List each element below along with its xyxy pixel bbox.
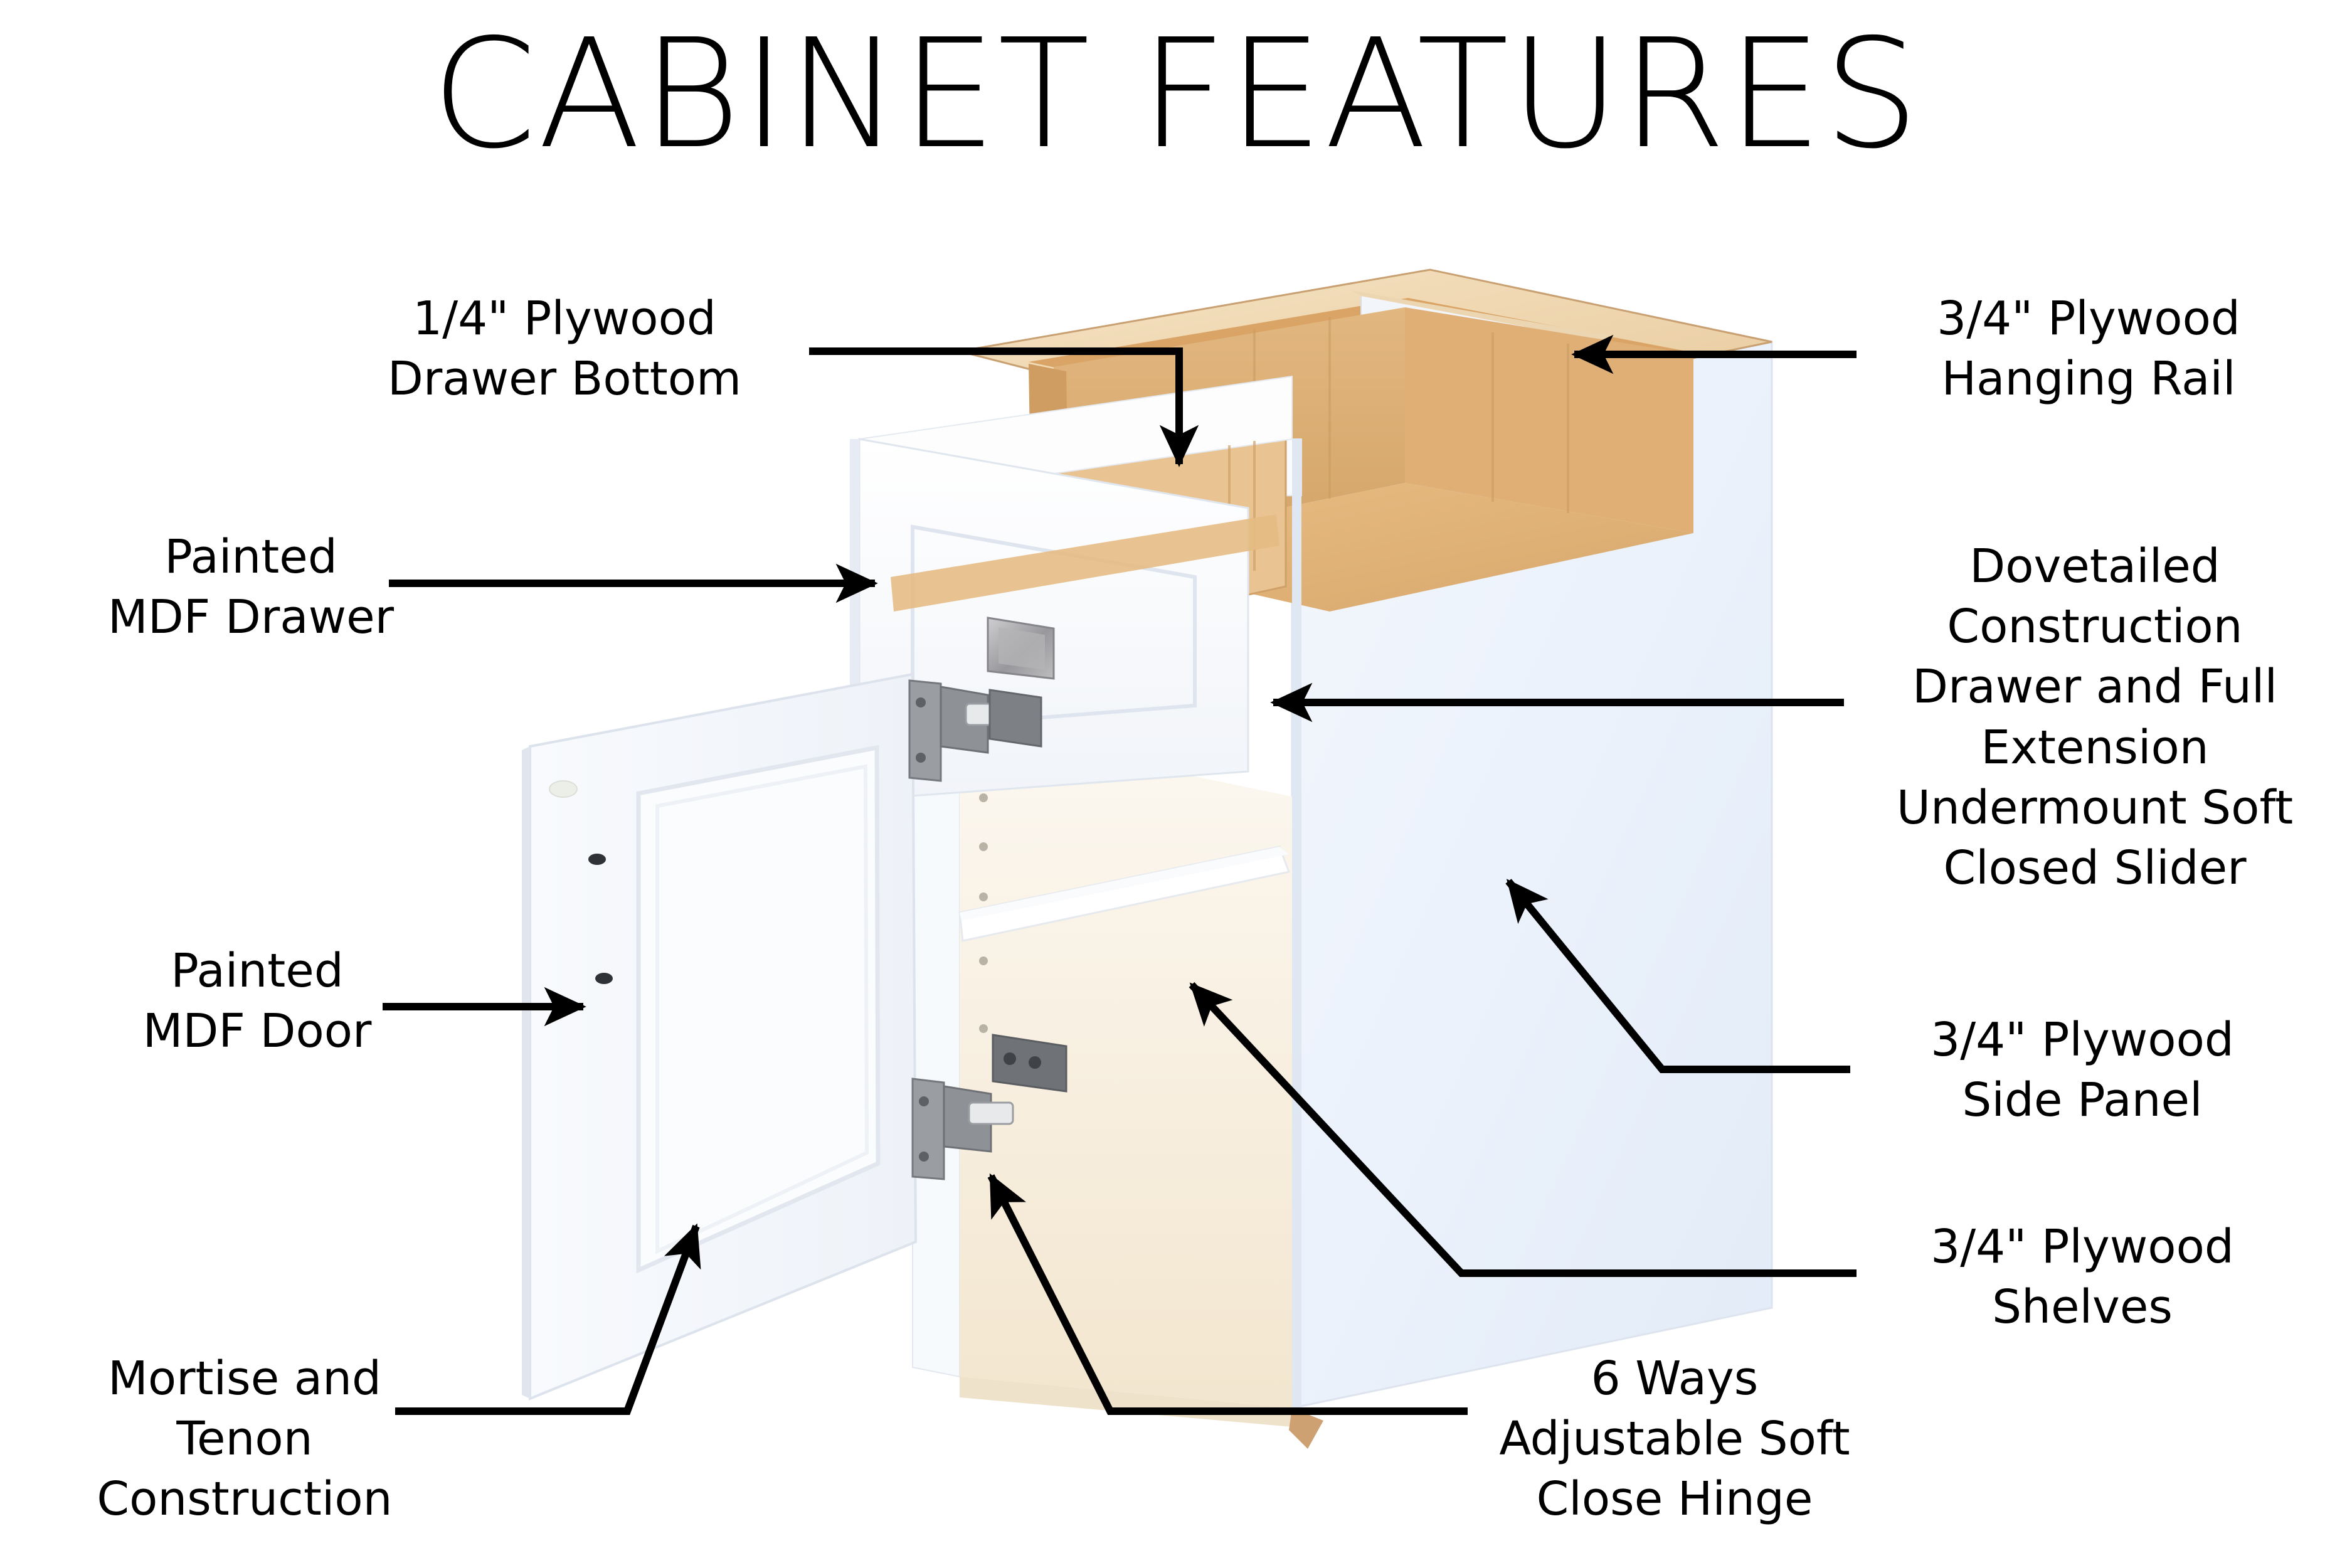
callout-label-shelves: 3/4" Plywood Shelves (1863, 1217, 2302, 1337)
callout-label-painted-drawer: Painted MDF Drawer (56, 527, 445, 647)
door-bumper-pad (549, 781, 577, 797)
callout-label-drawer-bottom: 1/4" Plywood Drawer Bottom (351, 289, 778, 409)
door-left-edge (522, 746, 530, 1399)
callout-label-side-panel: 3/4" Plywood Side Panel (1863, 1010, 2302, 1130)
drawer-pull-handle[interactable] (988, 618, 1054, 679)
shaker-door[interactable] (522, 674, 916, 1399)
side-panel-front-edge (1292, 439, 1301, 1411)
poster-root: CABINET FEATURES (0, 0, 2352, 1568)
callout-label-soft-close-hinge: 6 Ways Adjustable Soft Close Hinge (1474, 1348, 1875, 1530)
callout-label-hanging-rail: 3/4" Plywood Hanging Rail (1869, 289, 2308, 409)
callout-label-dovetail-construction: Dovetailed Construction Drawer and Full … (1850, 536, 2339, 898)
callout-label-painted-door: Painted MDF Door (69, 941, 445, 1061)
callout-label-mortise-tenon: Mortise and Tenon Construction (44, 1348, 445, 1530)
